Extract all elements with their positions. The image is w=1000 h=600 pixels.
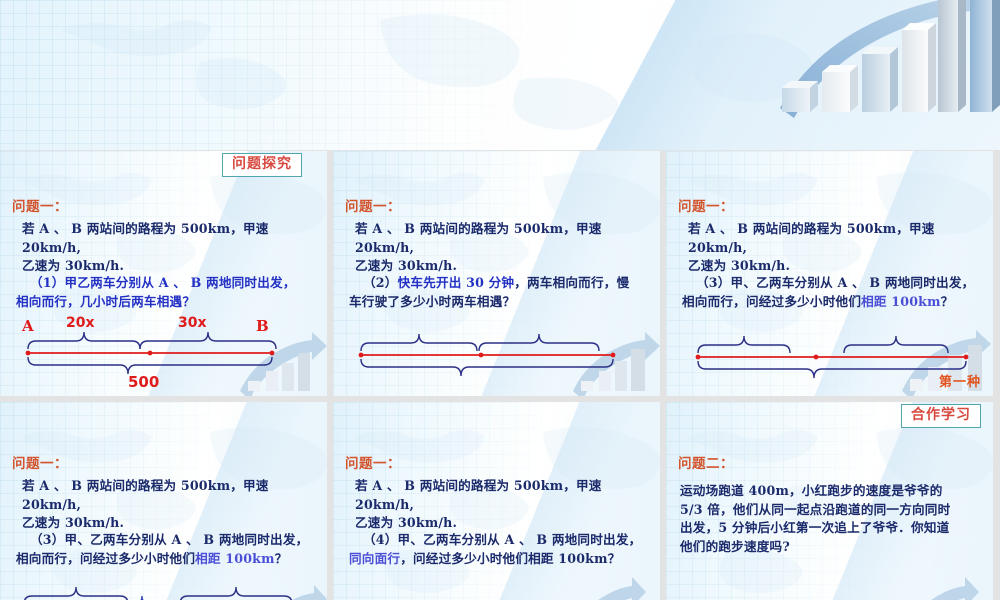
question-heading: 问题二： (678, 452, 734, 472)
question-body-line-1: 若 A 、 B 两站间的路程为 500km，甲速 20km/h, (355, 220, 650, 257)
question-body-line-4: 他们的跑步速度吗? (680, 538, 983, 557)
diagram-brace-left-label: 20x (66, 315, 95, 331)
question-part-line-1: （2）快车先开出 30 分钟，两车相向而行，慢 (349, 274, 652, 293)
question-body-line-1: 若 A 、 B 两站间的路程为 500km，甲速 20km/h, (688, 220, 983, 257)
bar-chart-graphic (546, 565, 658, 600)
diagram-brace-right-label: 30x (178, 315, 207, 331)
question-part: （2）快车先开出 30 分钟，两车相向而行，慢 车行驶了多少小时两车相遇？ (349, 274, 652, 312)
diagram-label-a: A (21, 317, 34, 335)
diagram-label-b: B (256, 317, 269, 335)
slide-6[interactable]: 合作学习 问题二： 运动场跑道 400m，小红跑步的速度是爷爷的 5/3 倍，他… (666, 402, 993, 600)
tag-explore[interactable]: 问题探究 (222, 153, 302, 177)
question-body: 若 A 、 B 两站间的路程为 500km，甲速 20km/h, 乙速为 30k… (22, 220, 317, 276)
slide-2[interactable]: 问题一： 若 A 、 B 两站间的路程为 500km，甲速 20km/h, 乙速… (333, 151, 660, 396)
question-body-line-3: 出发，5 分钟后小红第一次追上了爷爷．你知道 (680, 519, 983, 538)
question-body: 运动场跑道 400m，小红跑步的速度是爷爷的 5/3 倍，他们从同一起点沿跑道的… (680, 482, 983, 557)
presentation-contact-sheet: 问题探究 问题一： 若 A 、 B 两站间的路程为 500km，甲速 20km/… (0, 0, 1000, 600)
question-body-line-1: 若 A 、 B 两站间的路程为 500km，甲速 20km/h, (355, 477, 650, 514)
question-heading: 问题一： (12, 195, 68, 215)
slide-grid: 问题探究 问题一： 若 A 、 B 两站间的路程为 500km，甲速 20km/… (0, 151, 1000, 600)
question-body-line-2: 5/3 倍，他们从同一起点沿跑道的同一方向同时 (680, 501, 983, 520)
bar-chart-graphic (879, 565, 991, 600)
banner (0, 0, 1000, 150)
question-body: 若 A 、 B 两站间的路程为 500km，甲速 20km/h, 乙速为 30k… (355, 477, 650, 533)
slide-4[interactable]: 问题一： 若 A 、 B 两站间的路程为 500km，甲速 20km/h, 乙速… (0, 402, 327, 600)
question-heading: 问题一： (678, 195, 734, 215)
bar-chart-graphic (670, 0, 1000, 150)
question-part-line-1: （1）甲乙两车分别从 A 、 B 两地同时出发， (16, 274, 319, 293)
question-heading: 问题一： (345, 452, 401, 472)
question-body: 若 A 、 B 两站间的路程为 500km，甲速 20km/h, 乙速为 30k… (355, 220, 650, 276)
question-part: （4）甲、乙两车分别从 A 、 B 两地同时出发， 同向面行，问经过多少小时他们… (349, 531, 652, 569)
tag-cooperate[interactable]: 合作学习 (901, 404, 981, 428)
question-body-line-1: 运动场跑道 400m，小红跑步的速度是爷爷的 (680, 482, 983, 501)
question-part-line-1: （3）甲、乙两车分别从 A 、 B 两地同时出发， (682, 274, 985, 293)
question-body-line-1: 若 A 、 B 两站间的路程为 500km，甲速 20km/h, (22, 477, 317, 514)
distance-diagram: A B 20x 30x 500 (0, 309, 327, 396)
slide-1[interactable]: 问题探究 问题一： 若 A 、 B 两站间的路程为 500km，甲速 20km/… (0, 151, 327, 396)
diagram-note: 第一种 (939, 371, 981, 390)
slide-5[interactable]: 问题一： 若 A 、 B 两站间的路程为 500km，甲速 20km/h, 乙速… (333, 402, 660, 600)
distance-diagram (333, 309, 660, 396)
question-part: （3）甲、乙两车分别从 A 、 B 两地同时出发， 相向而行，问经过多少小时他们… (682, 274, 985, 312)
diagram-brace-bottom-label: 500 (128, 373, 159, 391)
slide-3[interactable]: 问题一： 若 A 、 B 两站间的路程为 500km，甲速 20km/h, 乙速… (666, 151, 993, 396)
question-body: 若 A 、 B 两站间的路程为 500km，甲速 20km/h, 乙速为 30k… (688, 220, 983, 276)
question-heading: 问题一： (345, 195, 401, 215)
question-part: （1）甲乙两车分别从 A 、 B 两地同时出发， 相向而行，几小时后两车相遇？ (16, 274, 319, 312)
question-part-line-2: 同向面行，问经过多少小时他们相距 100km？ (349, 550, 652, 569)
question-body: 若 A 、 B 两站间的路程为 500km，甲速 20km/h, 乙速为 30k… (22, 477, 317, 533)
question-part-line-1: （4）甲、乙两车分别从 A 、 B 两地同时出发， (349, 531, 652, 550)
question-part-line-1: （3）甲、乙两车分别从 A 、 B 两地同时出发， (16, 531, 319, 550)
question-part: （3）甲、乙两车分别从 A 、 B 两地同时出发， 相向而行，问经过多少小时他们… (16, 531, 319, 569)
question-heading: 问题一： (12, 452, 68, 472)
distance-diagram (0, 566, 327, 600)
question-body-line-1: 若 A 、 B 两站间的路程为 500km，甲速 20km/h, (22, 220, 317, 257)
